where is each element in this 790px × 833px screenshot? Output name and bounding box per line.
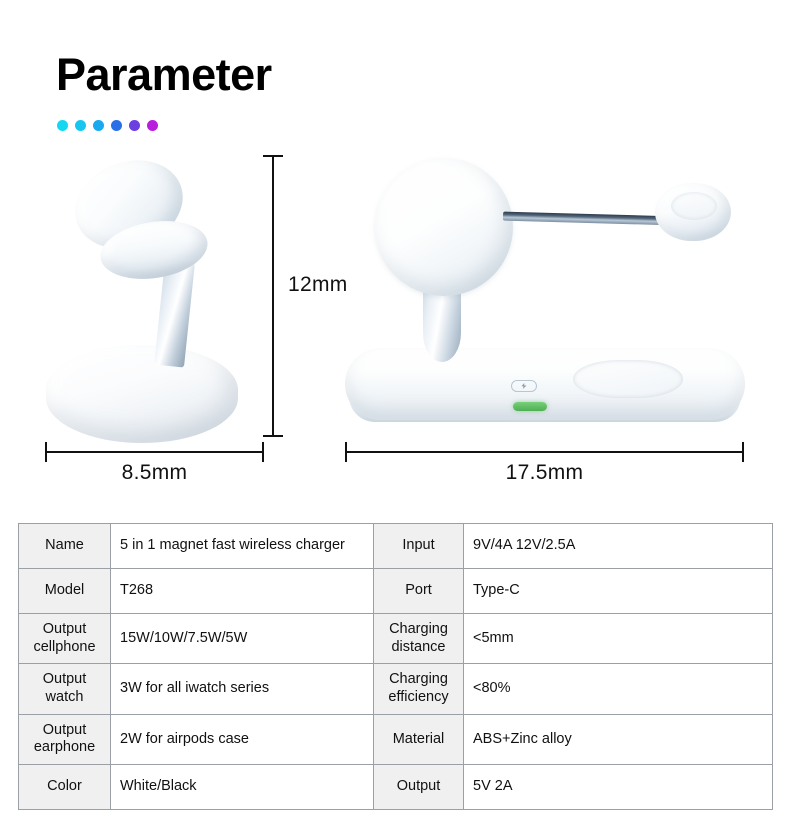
spec-value-cell: <80% (464, 664, 773, 714)
gradient-dot-decoration (57, 120, 158, 131)
dimension-label-right-width: 17.5mm (345, 461, 744, 485)
spec-label-cell: Output cellphone (19, 614, 111, 664)
dimension-line-right-width (345, 451, 744, 453)
spec-value-cell: 5 in 1 magnet fast wireless charger (111, 524, 374, 569)
spec-label-cell: Charging efficiency (374, 664, 464, 714)
page-title: Parameter (56, 52, 272, 97)
specification-table-container: Name5 in 1 magnet fast wireless chargerI… (18, 523, 772, 810)
spec-value-cell: 2W for airpods case (111, 714, 374, 764)
watch-charger-inner (671, 192, 717, 220)
table-row: Output watch3W for all iwatch seriesChar… (19, 664, 773, 714)
table-row: Output earphone2W for airpods caseMateri… (19, 714, 773, 764)
spec-value-cell: <5mm (464, 614, 773, 664)
spec-value-cell: White/Black (111, 765, 374, 810)
charging-bolt-icon (511, 380, 537, 392)
dimension-line-height (272, 155, 274, 437)
spec-label-cell: Material (374, 714, 464, 764)
spec-label-cell: Output earphone (19, 714, 111, 764)
dot-indigo-icon (129, 120, 140, 131)
dimension-label-height: 12mm (288, 273, 348, 297)
dot-blue-icon (111, 120, 122, 131)
spec-value-cell: 3W for all iwatch series (111, 664, 374, 714)
spec-value-cell: T268 (111, 569, 374, 614)
spec-value-cell: 5V 2A (464, 765, 773, 810)
spec-value-cell: Type-C (464, 569, 773, 614)
product-image-stage (0, 140, 790, 500)
parameter-page: Parameter 12mm (0, 0, 790, 833)
spec-value-cell: 9V/4A 12V/2.5A (464, 524, 773, 569)
dot-cyan-icon (57, 120, 68, 131)
spec-label-cell: Output watch (19, 664, 111, 714)
dimension-label-left-width: 8.5mm (45, 461, 264, 485)
table-row: ModelT268PortType-C (19, 569, 773, 614)
dot-purple-icon (147, 120, 158, 131)
dot-light-blue-icon (93, 120, 104, 131)
spec-value-cell: 15W/10W/7.5W/5W (111, 614, 374, 664)
table-row: Output cellphone15W/10W/7.5W/5WCharging … (19, 614, 773, 664)
spec-label-cell: Color (19, 765, 111, 810)
spec-label-cell: Port (374, 569, 464, 614)
table-row: ColorWhite/BlackOutput5V 2A (19, 765, 773, 810)
spec-label-cell: Charging distance (374, 614, 464, 664)
watch-arm (503, 212, 675, 226)
dot-cyan-blue-icon (75, 120, 86, 131)
specification-table: Name5 in 1 magnet fast wireless chargerI… (18, 523, 773, 810)
spec-value-cell: ABS+Zinc alloy (464, 714, 773, 764)
table-row: Name5 in 1 magnet fast wireless chargerI… (19, 524, 773, 569)
specification-table-body: Name5 in 1 magnet fast wireless chargerI… (19, 524, 773, 810)
earphone-charging-pad (573, 360, 683, 398)
led-indicator (513, 402, 547, 411)
magsafe-pad-disc (375, 158, 513, 296)
spec-label-cell: Input (374, 524, 464, 569)
dimension-line-left-width (45, 451, 264, 453)
charger-base (46, 345, 238, 443)
product-image-front-view (335, 148, 755, 468)
spec-label-cell: Name (19, 524, 111, 569)
spec-label-cell: Model (19, 569, 111, 614)
spec-label-cell: Output (374, 765, 464, 810)
product-image-side-view (38, 160, 268, 470)
